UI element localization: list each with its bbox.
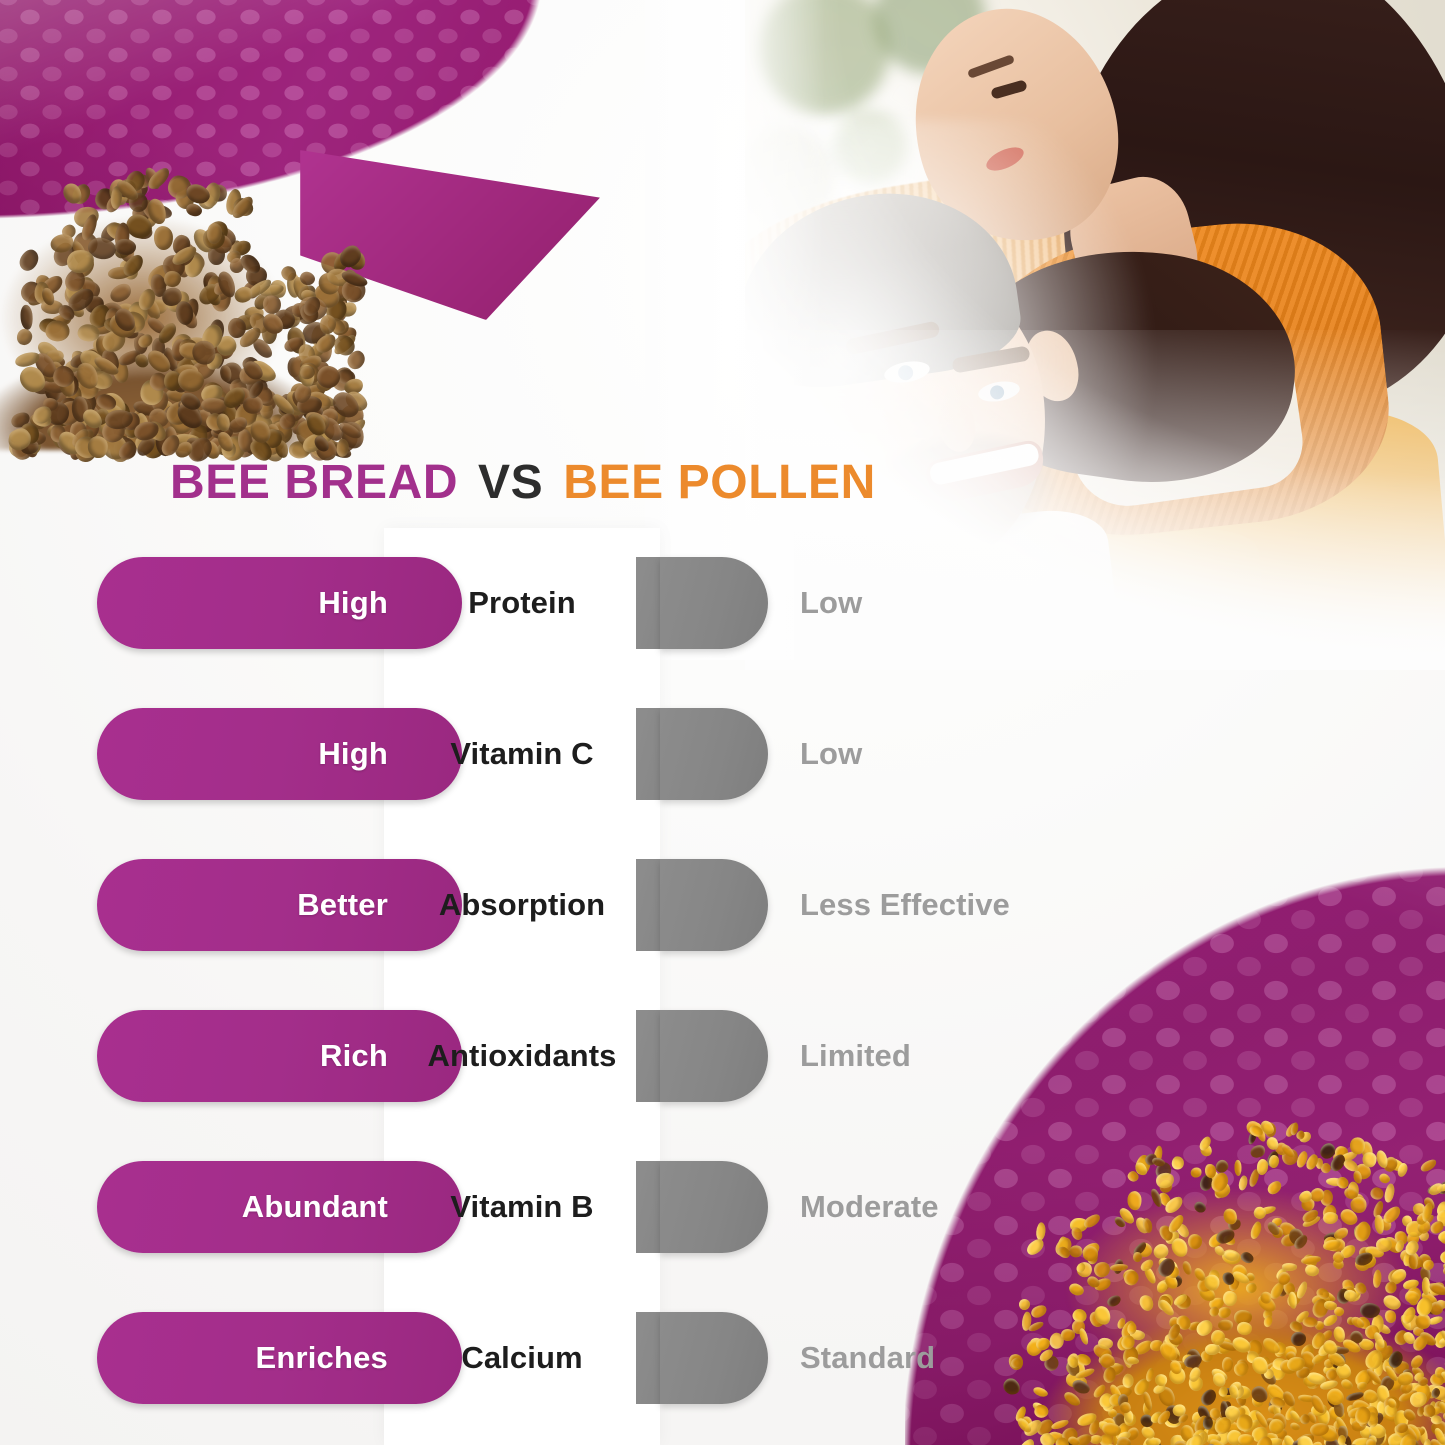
comparison-row: HighProteinLow bbox=[0, 557, 1445, 649]
bee-pollen-value-label: Less Effective bbox=[800, 859, 1010, 951]
bee-pollen-value-label: Standard bbox=[800, 1312, 935, 1404]
bee-pollen-value-label: Low bbox=[800, 557, 862, 649]
comparison-row: EnrichesCalciumStandard bbox=[0, 1312, 1445, 1404]
attribute-label: Calcium bbox=[384, 1312, 660, 1404]
bee-pollen-value-label: Moderate bbox=[800, 1161, 939, 1253]
bee-pollen-value-pill bbox=[660, 1312, 768, 1404]
bee-pollen-value-pill bbox=[660, 708, 768, 800]
bee-bread-value-label: Enriches bbox=[255, 1312, 388, 1404]
bee-pollen-value-label: Low bbox=[800, 708, 862, 800]
bee-pollen-value-pill bbox=[660, 557, 768, 649]
attribute-label: Vitamin C bbox=[384, 708, 660, 800]
comparison-row: RichAntioxidantsLimited bbox=[0, 1010, 1445, 1102]
bee-pollen-value-pill bbox=[660, 1161, 768, 1253]
bee-bread-value-label: Rich bbox=[320, 1010, 388, 1102]
bee-pollen-value-pill bbox=[660, 859, 768, 951]
bee-bread-value-label: Abundant bbox=[242, 1161, 388, 1253]
comparison-table: HighProteinLowHighVitamin CLowBetterAbso… bbox=[0, 0, 1445, 1445]
bee-bread-value-label: High bbox=[318, 557, 388, 649]
comparison-row: AbundantVitamin BModerate bbox=[0, 1161, 1445, 1253]
bee-bread-value-label: High bbox=[318, 708, 388, 800]
attribute-label: Antioxidants bbox=[384, 1010, 660, 1102]
bee-pollen-value-pill bbox=[660, 1010, 768, 1102]
infographic-canvas: BEE BREAD VS BEE POLLEN HighProteinLowHi… bbox=[0, 0, 1445, 1445]
bee-pollen-value-label: Limited bbox=[800, 1010, 911, 1102]
attribute-label: Protein bbox=[384, 557, 660, 649]
bee-bread-value-label: Better bbox=[297, 859, 388, 951]
comparison-row: HighVitamin CLow bbox=[0, 708, 1445, 800]
attribute-label: Absorption bbox=[384, 859, 660, 951]
attribute-label: Vitamin B bbox=[384, 1161, 660, 1253]
comparison-row: BetterAbsorptionLess Effective bbox=[0, 859, 1445, 951]
